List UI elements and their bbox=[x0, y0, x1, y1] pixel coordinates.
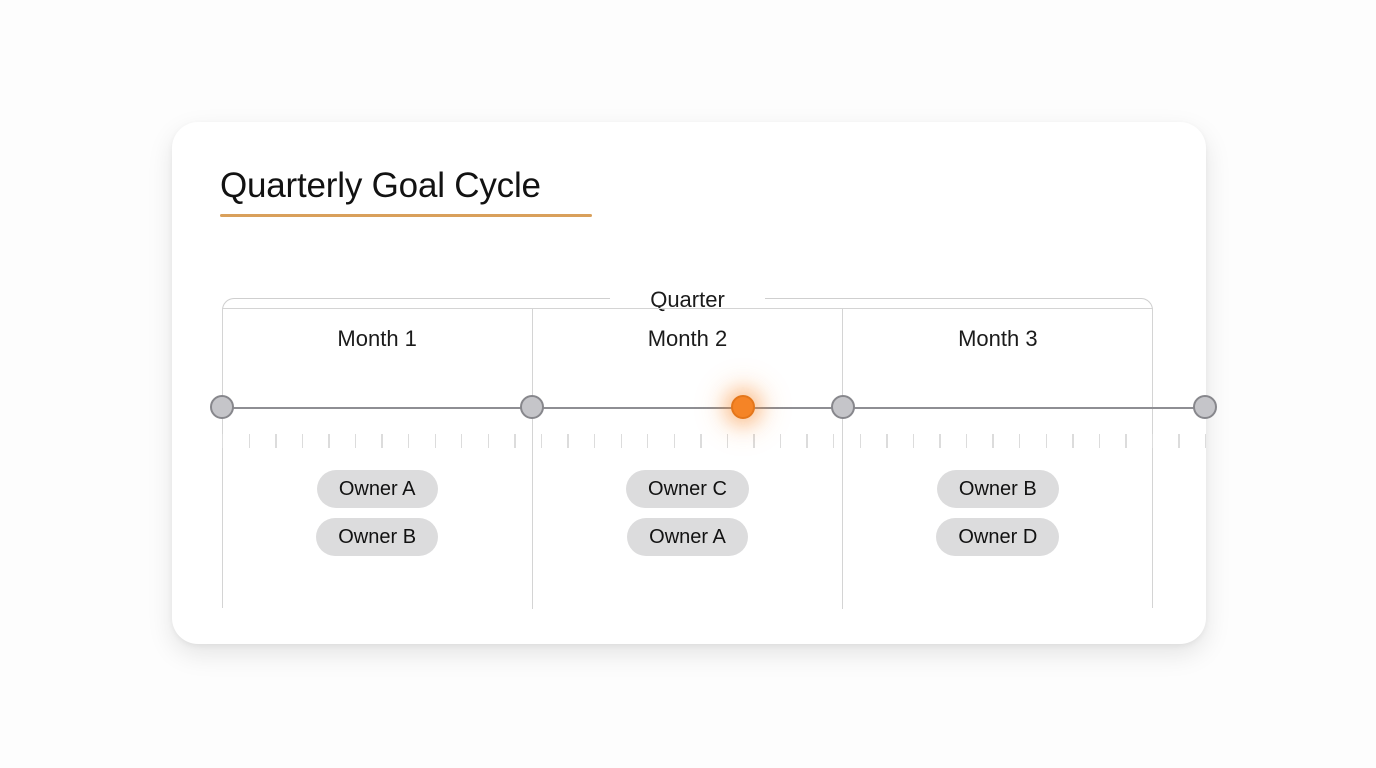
timeline-dot-2[interactable] bbox=[520, 395, 544, 419]
timeline-tick bbox=[514, 434, 515, 448]
timeline-line bbox=[222, 407, 1205, 409]
month-header-3[interactable]: Month 3 bbox=[843, 308, 1153, 370]
timeline-tick bbox=[355, 434, 356, 448]
timeline-tick bbox=[1125, 434, 1126, 448]
timeline-tick bbox=[1019, 434, 1020, 448]
timeline-tick bbox=[1205, 434, 1206, 448]
timeline-dot-3-active[interactable] bbox=[731, 395, 755, 419]
timeline-tick bbox=[1072, 434, 1073, 448]
month-header-2[interactable]: Month 2 bbox=[532, 308, 842, 370]
timeline-tick bbox=[488, 434, 489, 448]
quarter-bracket: Quarter bbox=[222, 287, 1153, 309]
timeline-tick bbox=[222, 434, 223, 448]
timeline-tick bbox=[860, 434, 861, 448]
month-headers: Month 1 Month 2 Month 3 bbox=[222, 308, 1153, 370]
timeline-tick bbox=[621, 434, 622, 448]
timeline-tick bbox=[541, 434, 542, 448]
timeline-tick bbox=[753, 434, 754, 448]
month-header-1[interactable]: Month 1 bbox=[222, 308, 532, 370]
timeline-tick bbox=[1099, 434, 1100, 448]
timeline-tick bbox=[1046, 434, 1047, 448]
timeline-tick-row bbox=[222, 434, 1205, 448]
timeline-tick bbox=[700, 434, 701, 448]
page-title: Quarterly Goal Cycle bbox=[220, 164, 592, 208]
timeline-dot-1[interactable] bbox=[210, 395, 234, 419]
owner-chip[interactable]: Owner A bbox=[317, 470, 438, 508]
owner-chip[interactable]: Owner A bbox=[627, 518, 748, 556]
owner-chip[interactable]: Owner B bbox=[937, 470, 1059, 508]
owner-chip[interactable]: Owner C bbox=[626, 470, 749, 508]
timeline-tick bbox=[408, 434, 409, 448]
title-block: Quarterly Goal Cycle bbox=[220, 164, 592, 217]
timeline-tick bbox=[886, 434, 887, 448]
owner-column-month-1: Owner AOwner B bbox=[222, 470, 532, 600]
timeline-tick bbox=[249, 434, 250, 448]
timeline-tick bbox=[461, 434, 462, 448]
timeline-tick bbox=[275, 434, 276, 448]
timeline-tick bbox=[594, 434, 595, 448]
owner-column-month-3: Owner BOwner D bbox=[843, 470, 1153, 600]
timeline-tick bbox=[966, 434, 967, 448]
timeline-tick bbox=[992, 434, 993, 448]
timeline-tick bbox=[1152, 434, 1153, 448]
timeline-tick bbox=[913, 434, 914, 448]
timeline-tick bbox=[939, 434, 940, 448]
timeline-tick bbox=[780, 434, 781, 448]
owner-column-month-2: Owner COwner A bbox=[532, 470, 842, 600]
timeline-tick bbox=[647, 434, 648, 448]
timeline-tick bbox=[833, 434, 834, 448]
timeline[interactable] bbox=[222, 407, 1205, 408]
timeline-tick bbox=[302, 434, 303, 448]
timeline-tick bbox=[1178, 434, 1179, 448]
owner-chip[interactable]: Owner B bbox=[316, 518, 438, 556]
owner-chip[interactable]: Owner D bbox=[936, 518, 1059, 556]
timeline-dot-5[interactable] bbox=[1193, 395, 1217, 419]
timeline-tick bbox=[567, 434, 568, 448]
timeline-tick bbox=[328, 434, 329, 448]
timeline-tick bbox=[381, 434, 382, 448]
timeline-tick bbox=[727, 434, 728, 448]
quarterly-goal-cycle-card: Quarterly Goal Cycle Quarter Month 1 Mon… bbox=[172, 122, 1206, 644]
timeline-tick bbox=[674, 434, 675, 448]
timeline-tick bbox=[435, 434, 436, 448]
title-underline bbox=[220, 214, 592, 217]
owner-columns: Owner AOwner B Owner COwner A Owner BOwn… bbox=[222, 470, 1153, 600]
timeline-tick bbox=[806, 434, 807, 448]
